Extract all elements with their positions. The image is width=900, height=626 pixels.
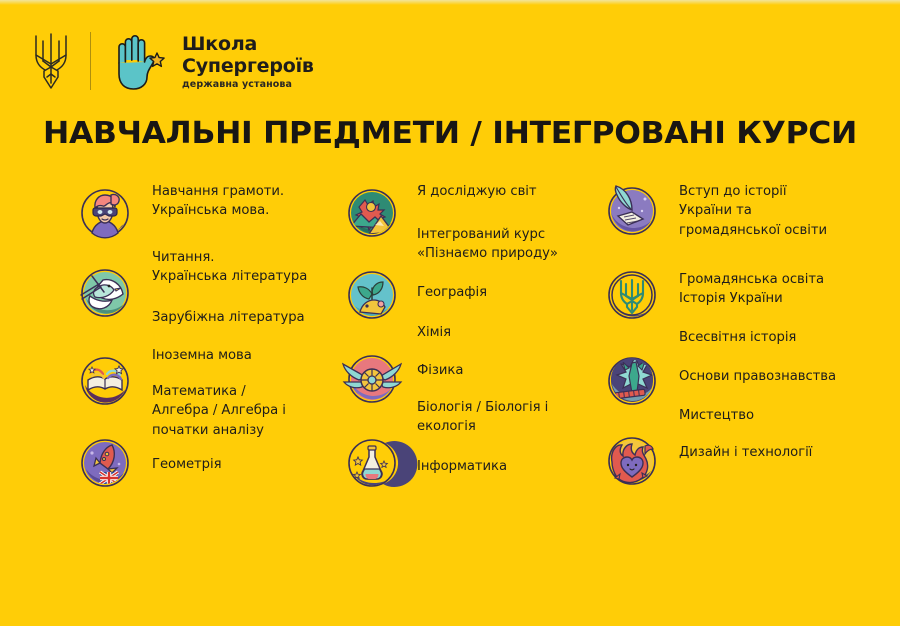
globe-plant-geography-icon	[345, 268, 399, 322]
landscape-sun-explore-icon	[345, 186, 399, 240]
subject-label: Іноземна мова	[152, 346, 337, 365]
subject-label: Основи правознавства	[679, 367, 879, 386]
superhero-hand-star-icon	[107, 29, 173, 93]
logo-wordmark: Школа Супергероїв державна установа	[182, 32, 314, 89]
subject-label: Зарубіжна література	[152, 308, 337, 327]
subject-label: Геометрія	[152, 455, 337, 474]
statue-liberty-law-icon	[605, 354, 659, 408]
poster-background: Школа Супергероїв державна установа НАВЧ…	[0, 0, 900, 626]
ukraine-trident-outline-icon	[30, 31, 72, 91]
subject-label: Дизайн і технології	[679, 443, 879, 462]
subject-label: Читання. Українська література	[152, 248, 337, 287]
top-edge-strip	[0, 0, 900, 5]
subject-label: Хімія	[417, 323, 612, 342]
subject-label: Математика / Алгебра / Алгебра і початки…	[152, 382, 337, 440]
winged-wheel-physics-icon	[345, 352, 399, 406]
subject-label: Навчання грамоти. Українська мова.	[152, 182, 337, 221]
subject-label: Громадянська освіта Історія України	[679, 270, 879, 309]
brand-logo[interactable]: Школа Супергероїв державна установа	[30, 28, 314, 94]
logo-divider	[90, 32, 91, 90]
subject-label: Вступ до історії України та громадянсько…	[679, 182, 879, 240]
subject-label: Географія	[417, 283, 612, 302]
subject-label: Я досліджую світ	[417, 182, 612, 201]
subject-label: Інтегрований курс «Пізнаємо природу»	[417, 225, 612, 264]
rocket-union-jack-icon	[78, 436, 132, 490]
rainbow-open-book-icon	[78, 354, 132, 408]
potion-flask-moon-icon	[345, 436, 399, 490]
book-bird-reading-icon	[78, 266, 132, 320]
subject-label: Мистецтво	[679, 406, 879, 425]
subject-label: Всесвітня історія	[679, 328, 879, 347]
subject-label: Біологія / Біологія і екологія	[417, 398, 612, 437]
quill-scroll-history-icon	[605, 184, 659, 238]
logo-title-line-1: Школа	[182, 34, 314, 55]
logo-subtitle: державна установа	[182, 80, 314, 90]
flaming-heart-design-icon	[605, 434, 659, 488]
logo-title-line-2: Супергероїв	[182, 56, 314, 77]
superhero-girl-mask-icon	[78, 186, 132, 240]
subject-label: Інформатика	[417, 457, 612, 476]
ukraine-trident-badge-icon	[605, 268, 659, 322]
subject-label: Фізика	[417, 361, 612, 380]
page-title: НАВЧАЛЬНІ ПРЕДМЕТИ / ІНТЕГРОВАНІ КУРСИ	[0, 116, 900, 151]
